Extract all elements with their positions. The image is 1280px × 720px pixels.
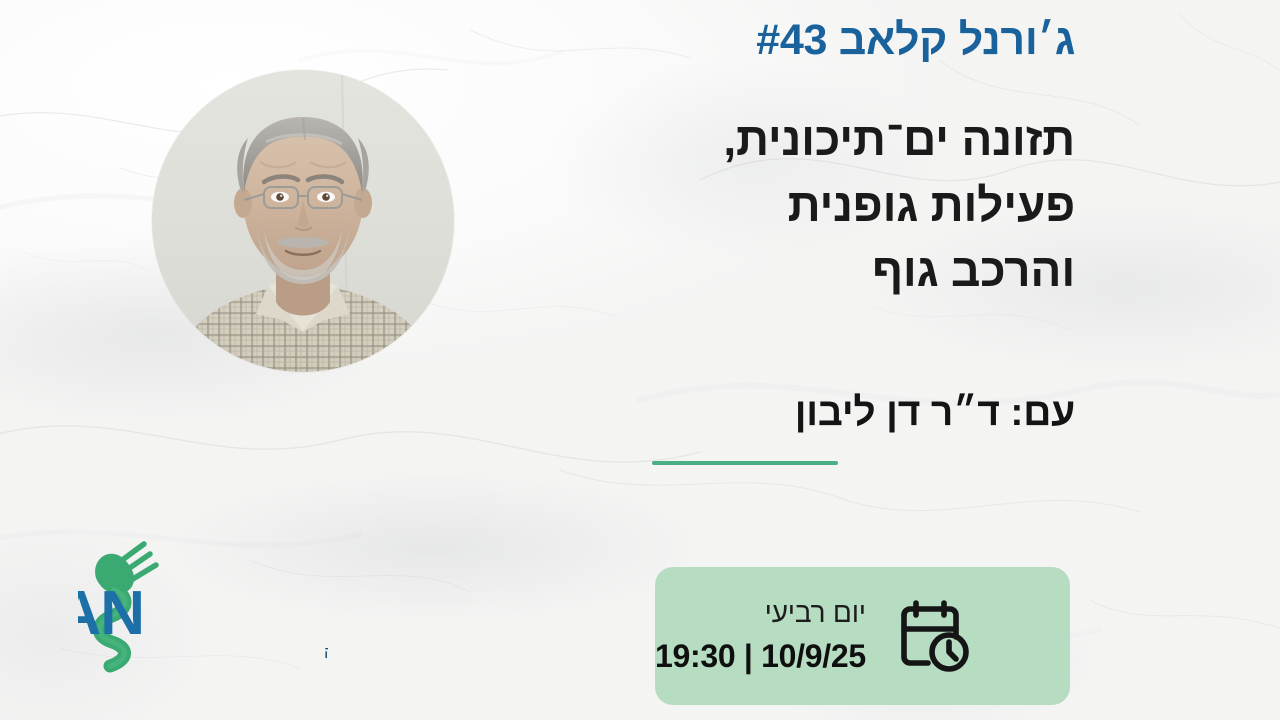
speaker-name: עם: ד״ר דן ליבון [415, 391, 1075, 435]
speaker-portrait [152, 70, 454, 372]
headline-line-3: והרכב גוף [415, 238, 1075, 303]
event-day-label: יום רביעי [655, 596, 866, 630]
pan-logo-svg: PAN ארגון רופאים לתזונה [78, 532, 328, 682]
event-time-date: 19:30 | 10/9/25 [655, 637, 866, 676]
pan-tagline: ארגון רופאים לתזונה [324, 643, 328, 662]
kicker-title: ג׳ורנל קלאב #43 [415, 16, 1075, 65]
poster-canvas: ג׳ורנל קלאב #43 תזונה ים־תיכונית, פעילות… [0, 0, 1280, 720]
calendar-clock-icon [892, 595, 974, 677]
date-time-card: יום רביעי 19:30 | 10/9/25 [655, 567, 1070, 705]
headline-line-2: פעילות גופנית [415, 173, 1075, 238]
divider-wrapper [415, 461, 1075, 465]
page-title: תזונה ים־תיכונית, פעילות גופנית והרכב גו… [415, 107, 1075, 303]
green-divider [652, 461, 838, 465]
pan-logo: PAN ארגון רופאים לתזונה [78, 532, 328, 682]
pan-wordmark: PAN [78, 579, 144, 648]
speaker-portrait-photo [152, 70, 454, 372]
date-text-group: יום רביעי 19:30 | 10/9/25 [655, 596, 866, 675]
headline-line-1: תזונה ים־תיכונית, [415, 107, 1075, 172]
text-column: ג׳ורנל קלאב #43 תזונה ים־תיכונית, פעילות… [415, 0, 1075, 465]
